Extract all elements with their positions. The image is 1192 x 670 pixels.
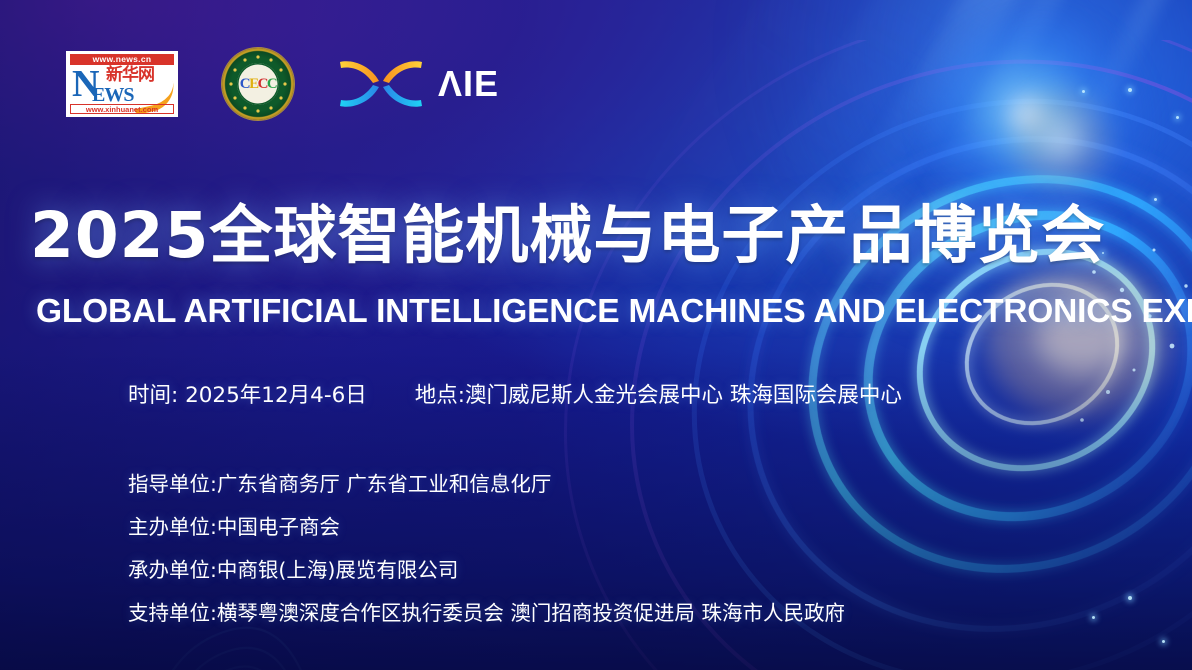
aie-wordmark: ΛIE bbox=[438, 66, 499, 102]
xinhua-chinese-name: 新华网 bbox=[106, 67, 154, 84]
xinhua-news-logo[interactable]: www.news.cn N EWS 新华网 www.xinhuanet.com bbox=[66, 51, 178, 117]
page-title-english: GLOBAL ARTIFICIAL INTELLIGENCE MACHINES … bbox=[36, 290, 1192, 334]
org-line-guidance: 指导单位:广东省商务厅 广东省工业和信息化厅 bbox=[128, 467, 845, 497]
sparkle-particle bbox=[1128, 88, 1132, 92]
expo-poster: www.news.cn N EWS 新华网 www.xinhuanet.com bbox=[0, 0, 1192, 670]
cecc-seal-stars-icon bbox=[226, 52, 290, 116]
sparkle-particle bbox=[1128, 596, 1132, 600]
xinhua-letters-ews: EWS bbox=[92, 85, 133, 105]
sparkle-particle bbox=[1092, 616, 1095, 619]
xinhua-bottom-url: www.xinhuanet.com bbox=[70, 104, 174, 114]
sparkle-particle bbox=[1176, 116, 1179, 119]
event-meta: 时间: 2025年12月4-6日 地点:澳门威尼斯人金光会展中心 珠海国际会展中… bbox=[128, 378, 902, 409]
org-line-organizer: 承办单位:中商银(上海)展览有限公司 bbox=[128, 553, 845, 583]
event-venue: 地点:澳门威尼斯人金光会展中心 珠海国际会展中心 bbox=[415, 378, 902, 409]
aie-butterfly-icon bbox=[338, 57, 424, 111]
sparkle-particle bbox=[1162, 640, 1165, 643]
sparkle-particle bbox=[1154, 198, 1157, 201]
page-title-chinese: 2025全球智能机械与电子产品博览会 bbox=[30, 196, 1105, 276]
sparkle-particle bbox=[1082, 90, 1085, 93]
org-line-supporters: 支持单位:横琴粤澳深度合作区执行委员会 澳门招商投资促进局 珠海市人民政府 bbox=[128, 596, 845, 626]
org-line-host: 主办单位:中国电子商会 bbox=[128, 510, 845, 540]
aie-logo[interactable]: ΛIE bbox=[338, 57, 499, 111]
cecc-seal-logo[interactable]: CECC bbox=[222, 48, 294, 120]
organization-list: 指导单位:广东省商务厅 广东省工业和信息化厅 主办单位:中国电子商会 承办单位:… bbox=[128, 467, 845, 626]
sponsor-logo-row: www.news.cn N EWS 新华网 www.xinhuanet.com bbox=[66, 48, 499, 120]
event-date: 时间: 2025年12月4-6日 bbox=[128, 378, 367, 409]
